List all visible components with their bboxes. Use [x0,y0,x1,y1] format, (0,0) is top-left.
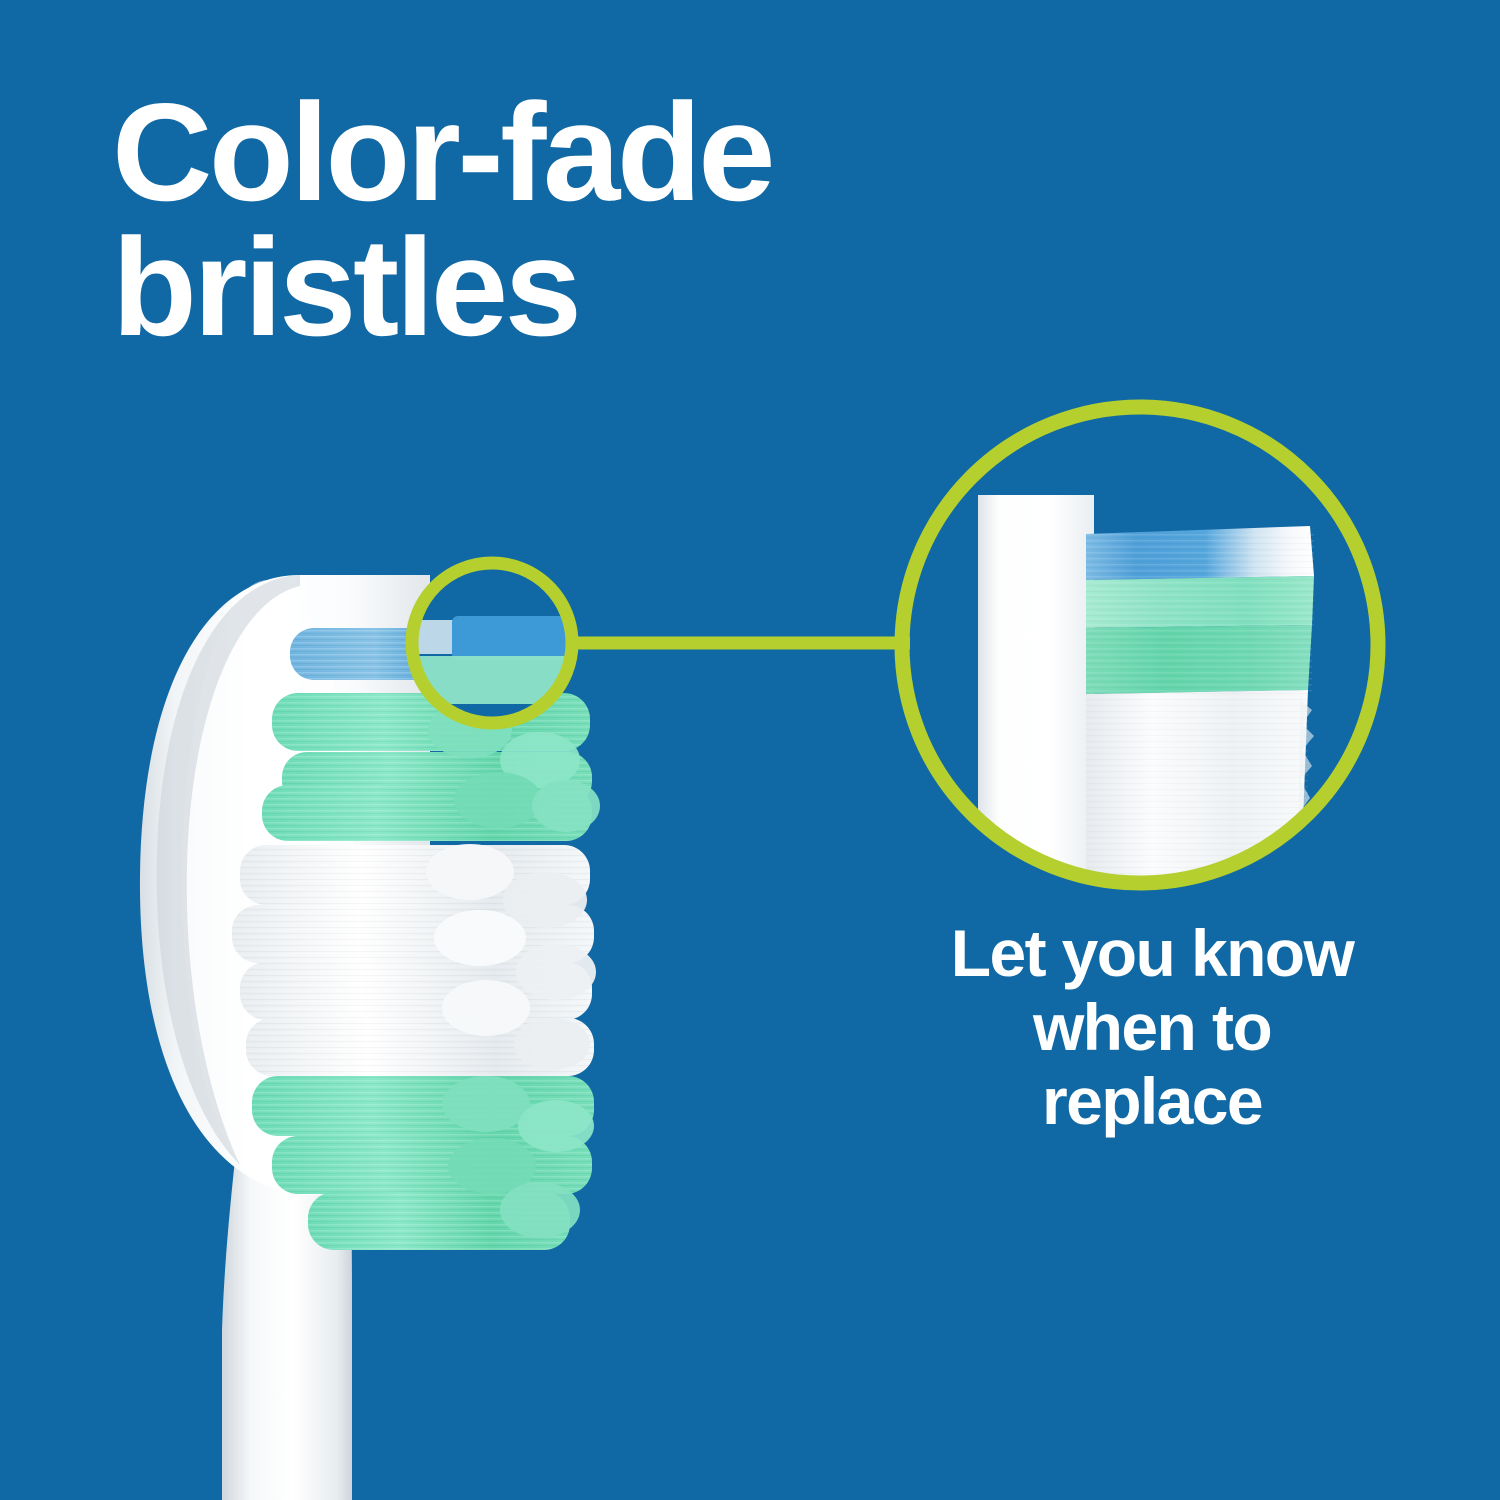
feature-caption: Let you know when to replace [852,917,1452,1139]
bristle-row-white-middle [232,844,596,1076]
page-title: Color-fade bristles [112,86,1112,356]
product-feature-image: Color-fade bristles Let you know when to… [0,0,1500,1500]
bristle-row-teal-upper [262,693,600,841]
